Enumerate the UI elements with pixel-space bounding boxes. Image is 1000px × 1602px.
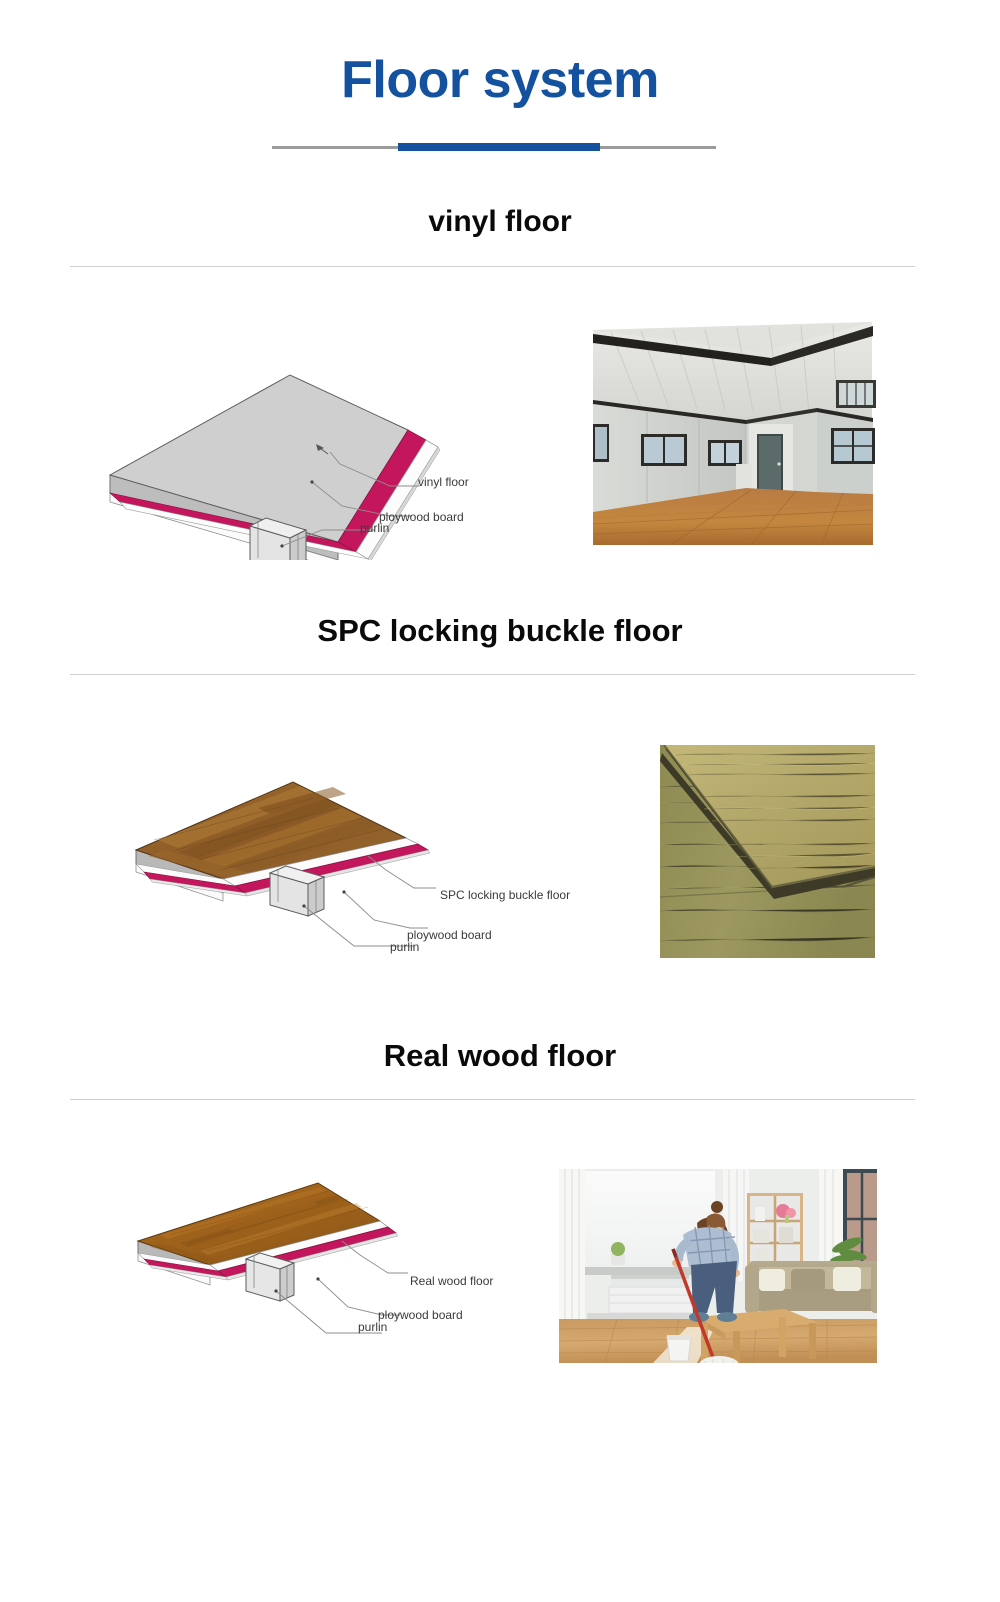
section-rule-spc (70, 674, 915, 675)
title-underline-rule (272, 143, 716, 151)
section-heading-vinyl: vinyl floor (0, 205, 1000, 239)
living-room-mopping-photo (547, 1141, 888, 1371)
title-rule-blue-segment (398, 143, 600, 151)
vinyl-diagram-label-middle: ploywood board (379, 510, 464, 524)
spc-diagram-label-middle: ploywood board (407, 928, 492, 942)
section-heading-realwood: Real wood floor (0, 1038, 1000, 1074)
vinyl-floor-construction-diagram (90, 330, 500, 560)
spc-diagram-label-bottom: purlin (390, 940, 419, 954)
realwood-diagram-label-bottom: purlin (358, 1320, 387, 1334)
real-wood-floor-construction-diagram (130, 1155, 520, 1355)
vinyl-diagram-label-bottom: purlin (360, 521, 389, 535)
vinyl-diagram-label-top: vinyl floor (418, 475, 469, 489)
container-house-interior-photo (581, 312, 884, 555)
spc-diagram-label-top: SPC locking buckle floor (440, 888, 570, 902)
realwood-diagram-label-top: Real wood floor (410, 1274, 493, 1288)
floor-system-page: Floor system vinyl floor (0, 0, 1000, 1602)
page-title: Floor system (0, 52, 1000, 109)
section-rule-vinyl (70, 266, 915, 267)
section-rule-realwood (70, 1099, 915, 1100)
spc-plank-closeup-photo (646, 727, 889, 974)
section-heading-spc: SPC locking buckle floor (0, 613, 1000, 649)
realwood-diagram-label-middle: ploywood board (378, 1308, 463, 1322)
